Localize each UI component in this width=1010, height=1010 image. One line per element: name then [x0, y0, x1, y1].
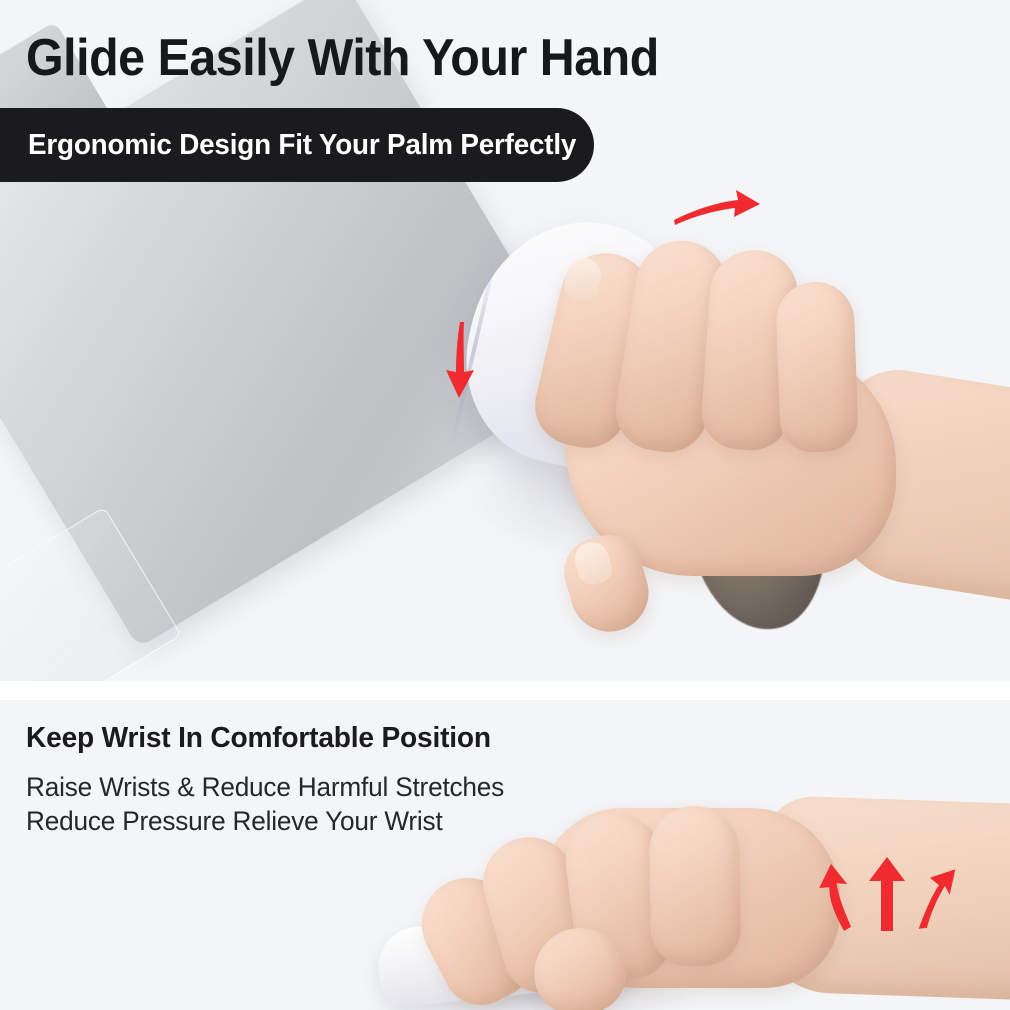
feature-badge: Ergonomic Design Fit Your Palm Perfectly: [0, 108, 594, 182]
laptop-photo: Backspace \ | Enter Shift ? / + PgUp PgD…: [0, 178, 490, 681]
little-finger-top: [775, 281, 859, 454]
lift-arrow-center-icon: [869, 857, 905, 931]
lift-arrows-icon-group: [795, 855, 975, 935]
feature-badge-label: Ergonomic Design Fit Your Palm Perfectly: [28, 108, 576, 182]
little-finger-bottom: [649, 805, 742, 967]
top-feature-panel: Backspace \ | Enter Shift ? / + PgUp PgD…: [0, 0, 1010, 681]
page-title: Glide Easily With Your Hand: [26, 28, 659, 88]
benefit-line-1: Raise Wrists & Reduce Harmful Stretches: [26, 770, 504, 804]
arrow-down-icon: [430, 318, 490, 402]
section-divider: [0, 681, 1010, 700]
arrow-right-icon: [672, 186, 762, 238]
benefit-list: Raise Wrists & Reduce Harmful Stretches …: [26, 770, 519, 838]
lift-arrow-left-icon: [814, 861, 860, 934]
product-feature-image: Backspace \ | Enter Shift ? / + PgUp PgD…: [0, 0, 1010, 1010]
lift-arrow-right-icon: [919, 865, 956, 932]
section-heading: Keep Wrist In Comfortable Position: [26, 722, 491, 755]
benefit-line-2: Reduce Pressure Relieve Your Wrist: [26, 804, 504, 838]
hand-on-mouse-top: [530, 236, 1000, 656]
